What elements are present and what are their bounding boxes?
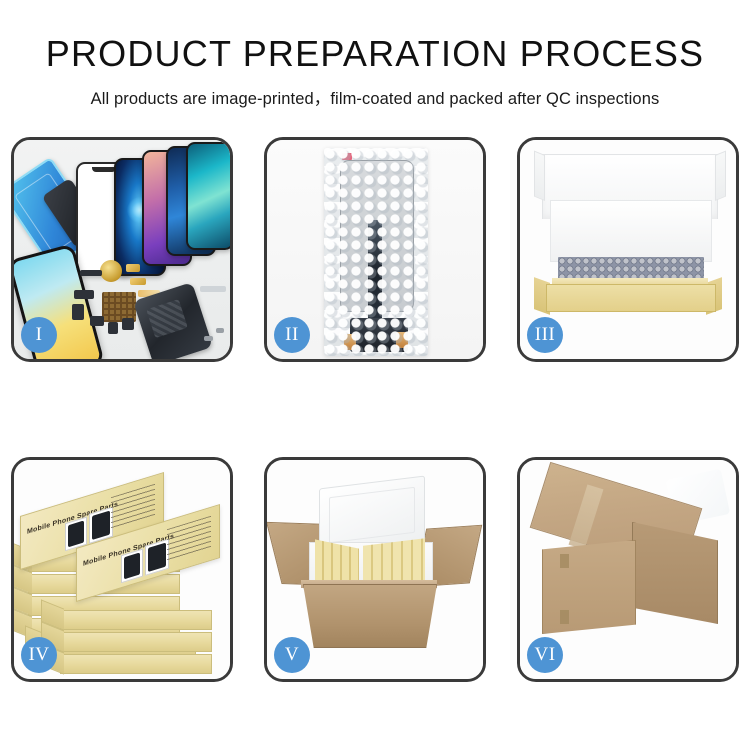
page-title: PRODUCT PREPARATION PROCESS bbox=[0, 0, 750, 75]
small-part-gold-a bbox=[126, 264, 140, 272]
header: PRODUCT PREPARATION PROCESS All products… bbox=[0, 0, 750, 109]
step-badge-2: II bbox=[274, 317, 310, 353]
screw-a bbox=[204, 336, 213, 341]
step-badge-6: VI bbox=[527, 637, 563, 673]
bubble-texture bbox=[324, 148, 428, 356]
stack-box-7 bbox=[60, 632, 212, 652]
small-part-gold-b bbox=[130, 278, 146, 285]
bubble-wrap-bag bbox=[324, 148, 428, 356]
tweezers bbox=[200, 286, 226, 292]
tray-front-gold bbox=[546, 284, 716, 312]
small-part-flex-b bbox=[72, 304, 84, 320]
small-part-flex-e bbox=[122, 318, 134, 330]
speaker-component bbox=[100, 260, 122, 282]
step-badge-5: V bbox=[274, 637, 310, 673]
small-part-flex-a bbox=[74, 290, 94, 299]
box-spec-lines-2 bbox=[167, 516, 211, 561]
process-step-3: III bbox=[517, 137, 739, 362]
process-step-1: I bbox=[11, 137, 233, 362]
carton-body bbox=[303, 584, 437, 648]
phone-screen-teal-wallpaper bbox=[186, 142, 230, 250]
carton-seam-bottom bbox=[560, 610, 569, 624]
carton-side-face bbox=[632, 522, 718, 624]
process-step-4: Mobile Phone Spare Parts Mobile Phone Sp… bbox=[11, 457, 233, 682]
step-badge-1: I bbox=[21, 317, 57, 353]
small-part-flex-c bbox=[90, 316, 104, 326]
process-step-5: V bbox=[264, 457, 486, 682]
step-badge-3: III bbox=[527, 317, 563, 353]
product-preparation-infographic: PRODUCT PREPARATION PROCESS All products… bbox=[0, 0, 750, 750]
stack-box-6 bbox=[60, 610, 212, 630]
box-spec-lines-1 bbox=[111, 484, 155, 529]
page-subtitle: All products are image-printed，film-coat… bbox=[0, 75, 750, 109]
stack-box-8 bbox=[60, 654, 212, 674]
small-part-strip bbox=[80, 270, 102, 276]
carton-front-face bbox=[542, 540, 636, 634]
carton-seam-top bbox=[560, 554, 569, 568]
foam-insert bbox=[550, 200, 712, 262]
box-window-d bbox=[145, 539, 169, 576]
screw-b bbox=[216, 328, 224, 333]
small-part-flex-d bbox=[108, 322, 118, 334]
process-step-6: VI bbox=[517, 457, 739, 682]
box-window-c bbox=[121, 549, 143, 584]
step-badge-4: IV bbox=[21, 637, 57, 673]
process-step-2: II bbox=[264, 137, 486, 362]
process-step-grid: I II bbox=[11, 137, 739, 684]
